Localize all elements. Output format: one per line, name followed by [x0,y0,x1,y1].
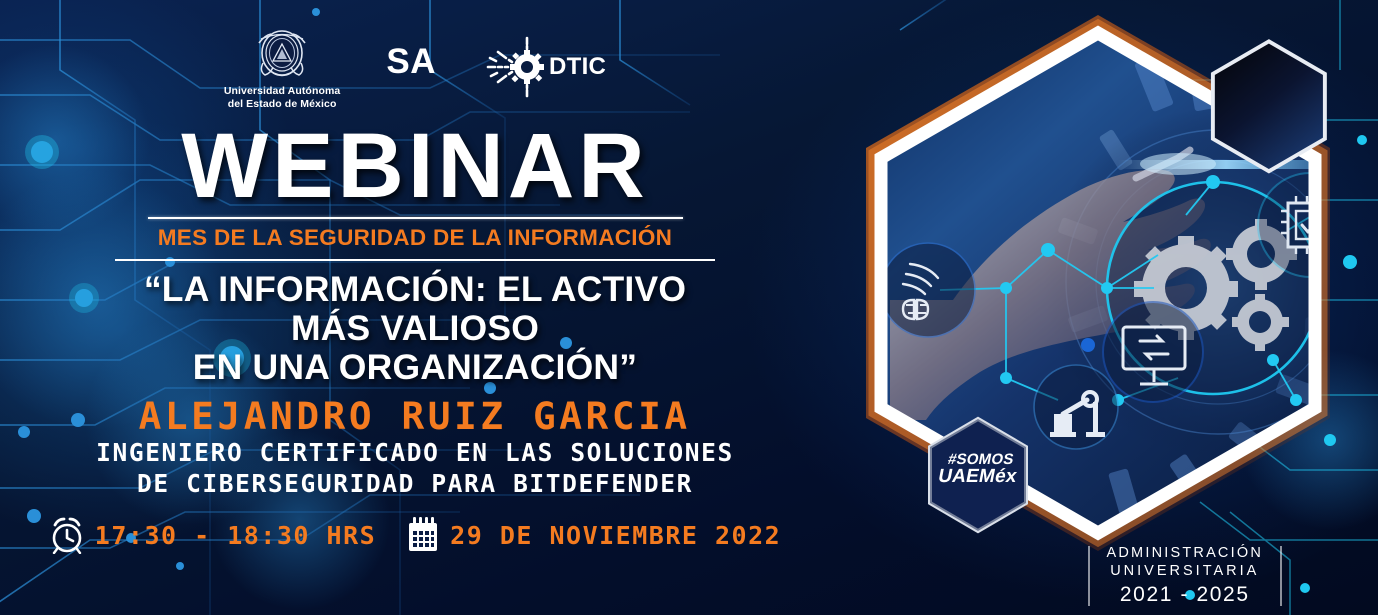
uaem-logo-text: Universidad Autónoma del Estado de Méxic… [224,85,341,111]
admin-divider-right [1280,546,1282,606]
talk-title-line-2: MÁS VALIOSO [144,309,686,348]
admin-line-3: 2021 - 2025 [1107,583,1263,607]
alarm-clock-icon [49,516,85,554]
badge-line-2: UAEMéx [933,467,1023,486]
talk-title: “LA INFORMACIÓN: EL ACTIVO MÁS VALIOSO E… [144,270,686,386]
administration-block: ADMINISTRACIÓN UNIVERSITARIA 2021 - 2025 [1088,545,1282,607]
event-time-text: 17:30 - 18:30 HRS [95,521,376,550]
event-time: 17:30 - 18:30 HRS [49,516,376,554]
speaker-credential: INGENIERO CERTIFICADO EN LAS SOLUCIONES … [96,438,734,500]
robot-arm-icon [1034,365,1118,449]
logo-row: Universidad Autónoma del Estado de Méxic… [224,26,606,108]
title-divider-bottom [115,259,715,261]
credential-line-2: DE CIBERSEGURIDAD PARA BITDEFENDER [96,469,734,500]
admin-text: ADMINISTRACIÓN UNIVERSITARIA 2021 - 2025 [1107,545,1263,607]
admin-divider-left [1088,546,1090,606]
speaker-name: ALEJANDRO RUIZ GARCIA [139,395,691,438]
page-title: WEBINAR [181,122,649,210]
talk-title-line-3: EN UNA ORGANIZACIÓN” [144,348,686,387]
admin-line-2: UNIVERSITARIA [1107,563,1263,581]
event-date: 29 DE NOVIEMBRE 2022 [406,516,781,554]
webinar-banner: #SOMOS UAEMéx [0,0,1378,615]
brain-ai-icon [881,243,975,337]
uaem-line-1: Universidad Autónoma [224,85,341,98]
admin-line-1: ADMINISTRACIÓN [1107,545,1263,563]
credential-line-1: INGENIERO CERTIFICADO EN LAS SOLUCIONES [96,438,734,469]
hexagon-graphic: #SOMOS UAEMéx [818,0,1378,615]
monitor-transfer-icon [1103,302,1203,402]
sa-logo: SA [386,42,436,82]
event-subtitle: MES DE LA SEGURIDAD DE LA INFORMACIÓN [158,225,672,251]
hexagon-illustration [818,0,1378,615]
dark-hexagon-accent [1213,0,1378,171]
uaem-line-2: del Estado de México [224,98,341,111]
event-meta: 17:30 - 18:30 HRS [49,516,781,554]
content-column: Universidad Autónoma del Estado de Méxic… [0,0,830,615]
uaem-logo: Universidad Autónoma del Estado de Méxic… [224,23,341,111]
somos-uaemex-text: #SOMOS UAEMéx [933,452,1026,486]
title-divider-top [148,217,683,219]
talk-title-line-1: “LA INFORMACIÓN: EL ACTIVO [144,270,686,309]
calendar-icon [406,516,440,554]
dtic-logo-text: DTIC [549,53,606,81]
badge-line-1: #SOMOS [936,452,1025,467]
gear-sun-icon [482,36,552,98]
crest-icon [253,23,311,81]
dtic-logo: DTIC [482,36,606,98]
event-date-text: 29 DE NOVIEMBRE 2022 [450,521,781,550]
